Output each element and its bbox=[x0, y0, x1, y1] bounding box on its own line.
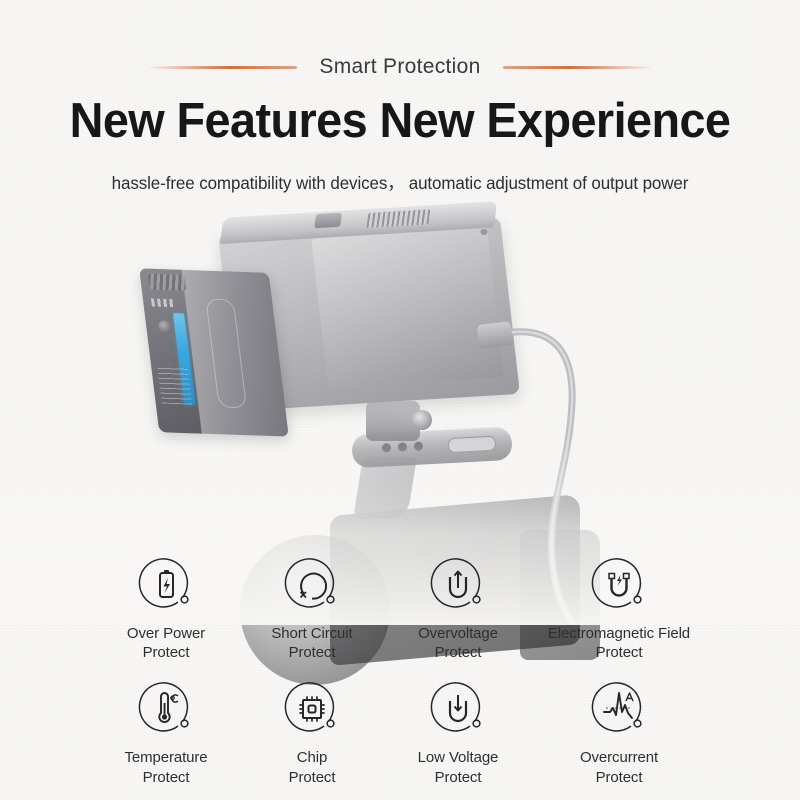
chip-icon bbox=[281, 679, 343, 741]
thermometer-icon bbox=[135, 679, 197, 741]
eyebrow-row: Smart Protection bbox=[0, 52, 800, 82]
feature-row-2: Temperature Protect Chip Protect bbox=[0, 679, 800, 786]
feature-label: Overcurrent Protect bbox=[580, 748, 658, 786]
arrow-up-magnet-icon bbox=[427, 555, 489, 617]
decorative-rule-left bbox=[147, 66, 297, 69]
page-subtitle: hassle-free compatibility with devices， … bbox=[12, 170, 788, 195]
battery-pack bbox=[139, 268, 289, 436]
feature-label: Over Power Protect bbox=[127, 624, 205, 662]
feature-overvoltage[interactable]: Overvoltage Protect bbox=[385, 555, 531, 662]
feature-row-1: Over Power Protect Short Circuit Protect bbox=[0, 555, 800, 662]
feature-short-circuit[interactable]: Short Circuit Protect bbox=[239, 555, 385, 662]
decorative-rule-right bbox=[503, 66, 653, 69]
feature-label: Short Circuit Protect bbox=[271, 624, 352, 662]
feature-label: Overvoltage Protect bbox=[418, 624, 498, 662]
feature-low-voltage[interactable]: Low Voltage Protect bbox=[385, 679, 531, 786]
feature-temperature[interactable]: Temperature Protect bbox=[93, 679, 239, 786]
feature-electromagnetic-field[interactable]: Electromagnetic Field Protect bbox=[531, 555, 707, 662]
cable-plug bbox=[477, 321, 514, 349]
feature-label: Chip Protect bbox=[289, 748, 336, 786]
battery-bolt-icon bbox=[135, 555, 197, 617]
waveform-amp-icon bbox=[588, 679, 650, 741]
product-feature-page: Smart Protection New Features New Experi… bbox=[0, 0, 800, 800]
feature-over-power[interactable]: Over Power Protect bbox=[93, 555, 239, 662]
arrow-down-magnet-icon bbox=[427, 679, 489, 741]
protection-feature-grid: Over Power Protect Short Circuit Protect bbox=[0, 555, 800, 787]
feature-chip[interactable]: Chip Protect bbox=[239, 679, 385, 786]
magnet-bolt-icon bbox=[588, 555, 650, 617]
short-circuit-icon bbox=[281, 555, 343, 617]
feature-label: Low Voltage Protect bbox=[418, 748, 499, 786]
eyebrow-text: Smart Protection bbox=[319, 55, 480, 79]
feature-overcurrent[interactable]: Overcurrent Protect bbox=[531, 679, 707, 786]
page-title: New Features New Experience bbox=[18, 96, 782, 148]
feature-label: Electromagnetic Field Protect bbox=[548, 624, 690, 662]
feature-label: Temperature Protect bbox=[124, 748, 207, 786]
